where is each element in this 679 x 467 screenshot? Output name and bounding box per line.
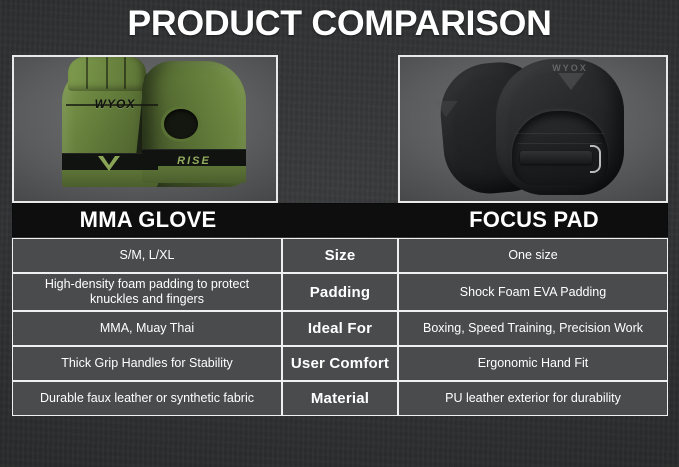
product-image-panels: WYOX RISE WYOX: [12, 55, 668, 203]
wyox-chevron-icon: [434, 101, 458, 117]
table-row: MMA, Muay Thai Ideal For Boxing, Speed T…: [12, 311, 668, 346]
glove-sub-brand-text: RISE: [164, 153, 224, 169]
product-comparison-graphic: PRODUCT COMPARISON WYOX RISE: [0, 0, 679, 467]
table-row: Thick Grip Handles for Stability User Co…: [12, 346, 668, 381]
cell-attribute-label: Size: [282, 238, 398, 273]
focus-pad-brand-text: WYOX: [540, 63, 600, 73]
table-row: Durable faux leather or synthetic fabric…: [12, 381, 668, 416]
glove-brand-text: WYOX: [72, 97, 158, 111]
mma-glove-illustration: WYOX RISE: [14, 57, 276, 201]
cell-attribute-label: Ideal For: [282, 311, 398, 346]
product-name-header-band: MMA GLOVE FOCUS PAD: [12, 203, 668, 237]
focus-pad-illustration: WYOX: [400, 57, 666, 201]
finger-separator: [106, 57, 108, 89]
mma-glove-image-panel: WYOX RISE: [12, 55, 278, 203]
cell-attribute-label: Padding: [282, 273, 398, 311]
focus-pad-seam: [516, 133, 604, 134]
focus-pad-strap: [520, 151, 592, 164]
page-title: PRODUCT COMPARISON: [0, 4, 679, 44]
finger-separator: [124, 57, 126, 89]
table-row: S/M, L/XL Size One size: [12, 238, 668, 273]
cell-glove-value: MMA, Muay Thai: [12, 311, 282, 346]
focus-pad-image-panel: WYOX: [398, 55, 668, 203]
comparison-table: S/M, L/XL Size One size High-density foa…: [12, 238, 668, 416]
product-name-mma-glove: MMA GLOVE: [13, 204, 283, 236]
cell-glove-value: Thick Grip Handles for Stability: [12, 346, 282, 381]
table-row: High-density foam padding to protect knu…: [12, 273, 668, 311]
cell-attribute-label: User Comfort: [282, 346, 398, 381]
product-name-focus-pad: FOCUS PAD: [399, 204, 669, 236]
focus-pad-seam: [518, 143, 602, 144]
cell-pad-value: PU leather exterior for durability: [398, 381, 668, 416]
wyox-chevron-icon: [98, 156, 120, 171]
glove-thumb-opening: [164, 109, 198, 139]
cell-pad-value: One size: [398, 238, 668, 273]
cell-pad-value: Shock Foam EVA Padding: [398, 273, 668, 311]
cell-pad-value: Boxing, Speed Training, Precision Work: [398, 311, 668, 346]
cell-glove-value: High-density foam padding to protect knu…: [12, 273, 282, 311]
cell-glove-value: Durable faux leather or synthetic fabric: [12, 381, 282, 416]
wyox-chevron-icon: [558, 73, 584, 90]
finger-separator: [86, 57, 88, 89]
cell-attribute-label: Material: [282, 381, 398, 416]
focus-pad-buckle: [590, 145, 601, 173]
cell-pad-value: Ergonomic Hand Fit: [398, 346, 668, 381]
comparison-table-body: S/M, L/XL Size One size High-density foa…: [12, 238, 668, 416]
cell-glove-value: S/M, L/XL: [12, 238, 282, 273]
